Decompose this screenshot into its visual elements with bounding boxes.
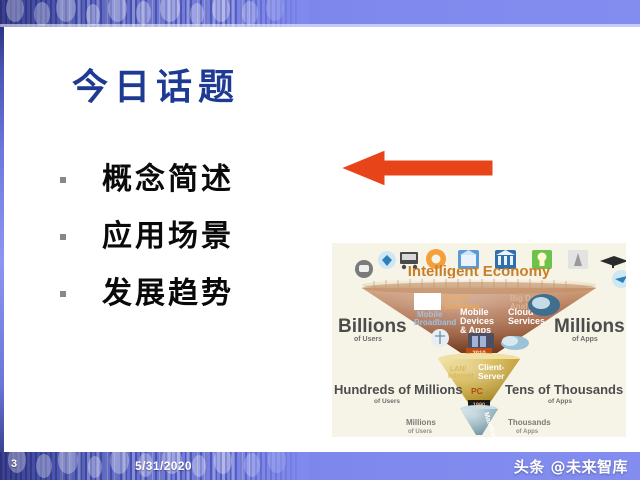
slide-date: 5/31/2020 bbox=[135, 459, 192, 473]
band-highlight-line bbox=[0, 24, 640, 27]
band-gradient-fade bbox=[230, 0, 310, 27]
list-item-label: 概念简述 bbox=[102, 154, 234, 198]
tier3-right-label: Thousands bbox=[508, 418, 551, 427]
watermark-label: 头条 @未来智库 bbox=[514, 456, 628, 477]
svg-text:of Apps: of Apps bbox=[572, 336, 598, 343]
list-item-label: 应用场景 bbox=[102, 211, 234, 255]
top-decorative-band bbox=[0, 0, 640, 27]
slide-number: 3 bbox=[11, 458, 17, 470]
left-pointing-arrow-icon bbox=[341, 150, 493, 186]
tier2-left-label: Hundreds of Millions bbox=[334, 382, 463, 397]
figure-heading: Intelligent Economy bbox=[408, 263, 551, 280]
list-item[interactable]: 应用场景 bbox=[60, 209, 310, 257]
svg-text:Server: Server bbox=[478, 371, 505, 381]
svg-text:Broadband: Broadband bbox=[414, 318, 456, 327]
svg-text:of Apps: of Apps bbox=[548, 398, 572, 405]
list-item[interactable]: 概念简述 bbox=[60, 152, 310, 200]
topic-list: 概念简述 应用场景 发展趋势 bbox=[60, 152, 310, 323]
svg-text:of Users: of Users bbox=[354, 336, 382, 343]
svg-text:PC: PC bbox=[471, 386, 483, 396]
list-item-label: 发展趋势 bbox=[102, 268, 234, 312]
svg-text:of Users: of Users bbox=[374, 398, 400, 405]
svg-text:of Apps: of Apps bbox=[516, 429, 539, 435]
band-gradient-fade bbox=[230, 452, 310, 480]
tier1-right-label: Millions bbox=[554, 316, 625, 337]
tier2-right-label: Tens of Thousands bbox=[505, 382, 623, 397]
list-item[interactable]: 发展趋势 bbox=[60, 266, 310, 314]
intelligent-economy-funnel-image: Intelligent Economy bbox=[332, 243, 626, 437]
square-bullet-icon bbox=[60, 234, 66, 240]
square-bullet-icon bbox=[60, 291, 66, 297]
svg-text:Services: Services bbox=[508, 316, 545, 326]
tier1-left-label: Billions bbox=[338, 316, 407, 337]
svg-text:LAN/: LAN/ bbox=[450, 366, 466, 373]
page-title: 今日话题 bbox=[72, 58, 240, 110]
presentation-slide: 今日话题 概念简述 应用场景 发展趋势 bbox=[0, 0, 640, 480]
left-edge-highlight bbox=[4, 27, 6, 452]
square-bullet-icon bbox=[60, 177, 66, 183]
tier3-left-label: Millions bbox=[406, 418, 436, 427]
svg-text:of Users: of Users bbox=[408, 429, 433, 435]
svg-text:Internet: Internet bbox=[448, 373, 474, 380]
